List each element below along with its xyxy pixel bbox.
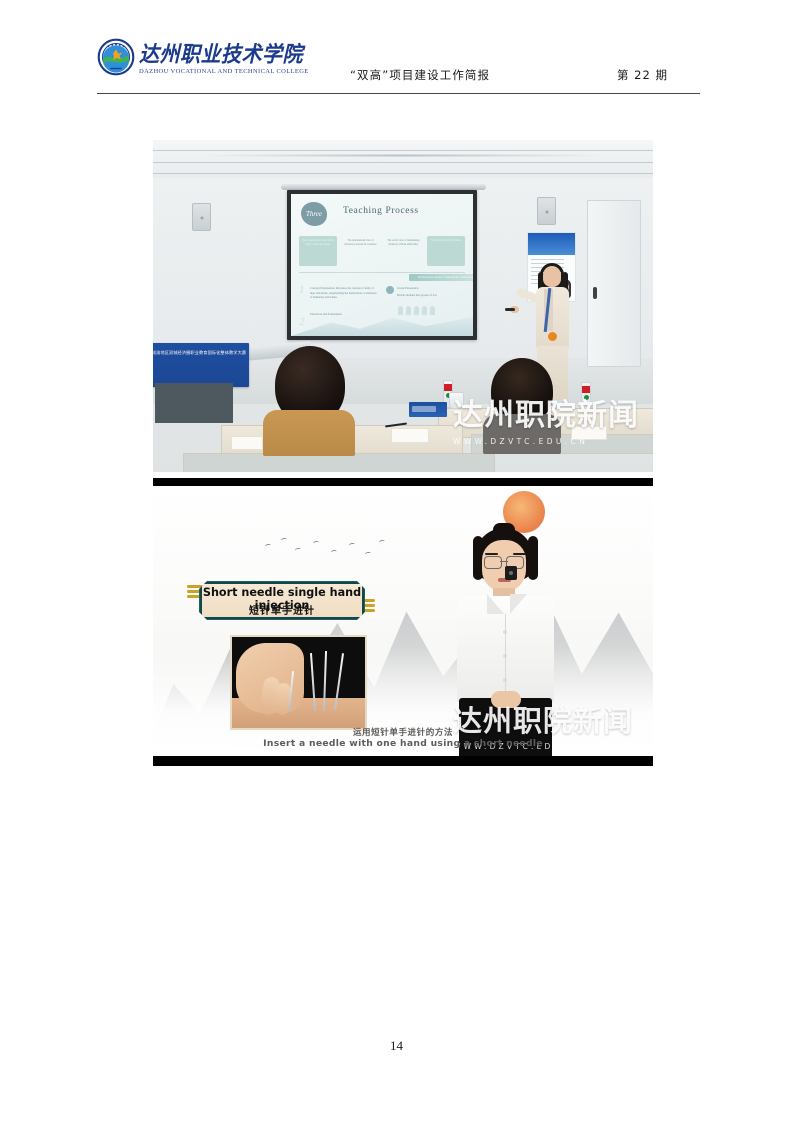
video-frame: Short needle single hand injection 短针单手进… xyxy=(153,478,653,766)
name-plate xyxy=(409,402,447,417)
slide-item-text: Concept Explanation: Introduce the conce… xyxy=(310,286,378,300)
glasses-icon xyxy=(484,556,524,567)
lesson-title-cn: 短针单手进针 xyxy=(200,602,364,617)
audience-member xyxy=(483,358,561,450)
figure-tcm-video: Short needle single hand injection 短针单手进… xyxy=(153,478,653,766)
slide-card: The social view of maintaining harmony w… xyxy=(385,236,423,266)
slide-item-number: 2 xyxy=(299,316,305,328)
page-header: 达州职业技术学院 DAZHOU VOCATIONAL AND TECHNICAL… xyxy=(97,36,700,94)
bulletin-title: “双高”项目建设工作简报 xyxy=(350,67,490,83)
slide-title: Teaching Process xyxy=(343,206,419,216)
wall-speaker-icon xyxy=(537,197,556,225)
document-page: 达州职业技术学院 DAZHOU VOCATIONAL AND TECHNICAL… xyxy=(0,0,793,1122)
college-name-en: DAZHOU VOCATIONAL AND TECHNICAL COLLEGE xyxy=(139,69,309,75)
paper-sheet xyxy=(391,428,429,443)
instructor-figure xyxy=(453,528,558,756)
ceiling xyxy=(153,140,653,180)
projection-screen: Three Teaching Process The contemporary … xyxy=(287,190,477,340)
slide-item-text: Extraction and Explanation xyxy=(310,312,378,317)
podium-banner: 成渝地区双城经济圈职业教育国际化整体教学大赛 xyxy=(153,343,249,387)
figure-classroom-presentation: Three Teaching Process The contemporary … xyxy=(153,140,653,472)
slide-bullet-icon xyxy=(386,286,394,294)
lapel-microphone-icon xyxy=(505,566,517,580)
paper-sheet xyxy=(571,426,607,440)
slide-section-label: Three xyxy=(306,210,322,218)
slide-left-column: 1 Concept Explanation: Introduce the con… xyxy=(299,286,378,330)
letterbox-bottom xyxy=(153,756,653,766)
presentation-slide: Three Teaching Process The contemporary … xyxy=(291,194,473,336)
slide-tag: Harmonious society: harmonious coexisten… xyxy=(409,274,473,281)
lesson-title-banner: Short needle single hand injection 短针单手进… xyxy=(189,581,373,618)
slide-item-number: 1 xyxy=(299,284,305,296)
classroom-door xyxy=(587,200,641,367)
bulletin-issue: 第 22 期 xyxy=(617,67,668,83)
header-divider xyxy=(97,93,700,94)
laser-pointer-icon xyxy=(505,308,515,311)
letterbox-top xyxy=(153,478,653,486)
group-people-icon xyxy=(398,306,435,315)
college-emblem-icon xyxy=(97,38,135,76)
slide-right-note: Divide students into groups of 4-6 xyxy=(397,293,465,298)
slide-tag-label: Harmonious society: harmonious coexisten… xyxy=(409,274,473,281)
college-logo: 达州职业技术学院 DAZHOU VOCATIONAL AND TECHNICAL… xyxy=(97,38,305,76)
college-name-cn: 达州职业技术学院 xyxy=(139,44,305,66)
slide-card: The practical path of harmony xyxy=(427,236,465,266)
slide-card-row: The contemporary value of the unity of m… xyxy=(299,236,465,266)
slide-divider xyxy=(299,272,465,273)
water-bottle xyxy=(581,382,591,410)
podium-base xyxy=(155,383,233,423)
presenter-badge xyxy=(548,332,557,341)
classroom-scene: Three Teaching Process The contemporary … xyxy=(153,140,653,472)
paper-cup xyxy=(449,392,464,409)
slide-section-badge: Three xyxy=(301,202,327,226)
slide-right-title: Group Preparation xyxy=(397,286,465,291)
wall-speaker-icon xyxy=(192,203,211,231)
mist-overlay xyxy=(153,646,653,756)
podium-banner-text: 成渝地区双城经济圈职业教育国际化整体教学大赛 xyxy=(153,349,248,356)
page-number: 14 xyxy=(0,1038,793,1054)
paper-sheet xyxy=(231,436,263,450)
video-scene: Short needle single hand injection 短针单手进… xyxy=(153,486,653,756)
audience-member xyxy=(263,346,355,450)
slide-card: The international view of harmony betwee… xyxy=(342,236,380,266)
needle-closeup-inset xyxy=(230,635,367,730)
birds-graphic xyxy=(261,538,391,564)
slide-card: The contemporary value of the unity of m… xyxy=(299,236,337,266)
